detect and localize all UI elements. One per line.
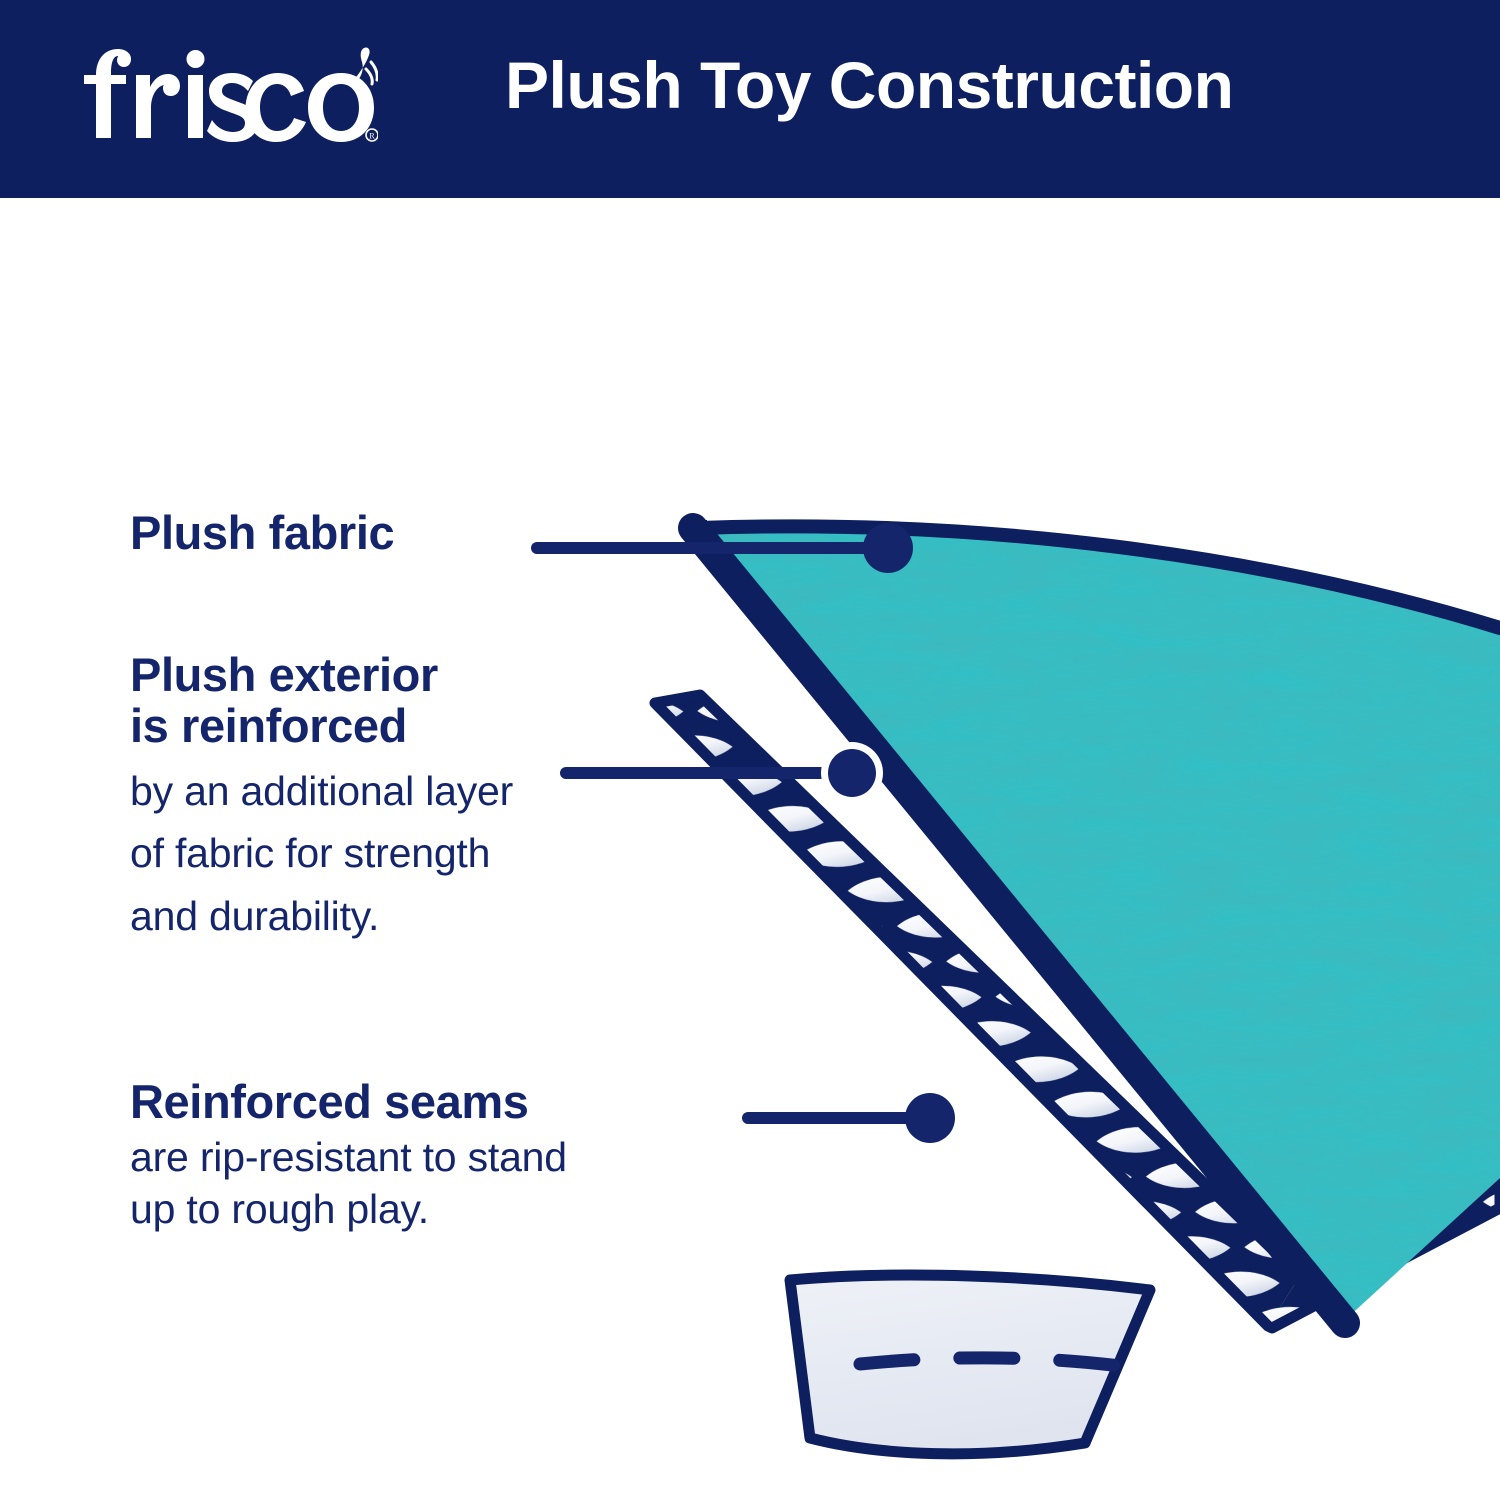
frisco-logo: R bbox=[78, 42, 378, 147]
callout-body-line: and durability. bbox=[130, 893, 513, 940]
page-title: Plush Toy Construction bbox=[505, 52, 1233, 118]
callout-label-plush-fabric: Plush fabric bbox=[130, 508, 394, 559]
callout-heading-line: Plush fabric bbox=[130, 508, 394, 559]
infographic-page: R Plush Toy Construction bbox=[0, 0, 1500, 1500]
callout-body-line: of fabric for strength bbox=[130, 830, 513, 877]
plush-fabric-panel bbox=[690, 520, 1500, 1323]
callout-heading-line: Reinforced seams bbox=[130, 1077, 567, 1128]
callout-heading-line: Plush exterior bbox=[130, 650, 513, 701]
callout-body-line: by an additional layer bbox=[130, 768, 513, 815]
header-bar: R Plush Toy Construction bbox=[0, 0, 1500, 198]
leader-line-reinforced-seams bbox=[748, 1093, 955, 1143]
callout-label-plush-exterior: Plush exterior is reinforced by an addit… bbox=[130, 650, 513, 940]
callout-body-line: up to rough play. bbox=[130, 1186, 567, 1233]
svg-text:R: R bbox=[369, 132, 375, 141]
callout-label-reinforced-seams: Reinforced seams are rip-resistant to st… bbox=[130, 1077, 567, 1233]
callout-dot-reinforced-seams bbox=[905, 1093, 955, 1143]
callout-dot-plush-fabric bbox=[863, 523, 913, 573]
callout-heading-line: is reinforced bbox=[130, 701, 513, 752]
callout-dot-plush-exterior bbox=[828, 749, 876, 797]
registered-trademark-icon: R bbox=[366, 129, 378, 141]
callout-body-line: are rip-resistant to stand bbox=[130, 1134, 567, 1181]
seam-flap bbox=[790, 1275, 1150, 1454]
